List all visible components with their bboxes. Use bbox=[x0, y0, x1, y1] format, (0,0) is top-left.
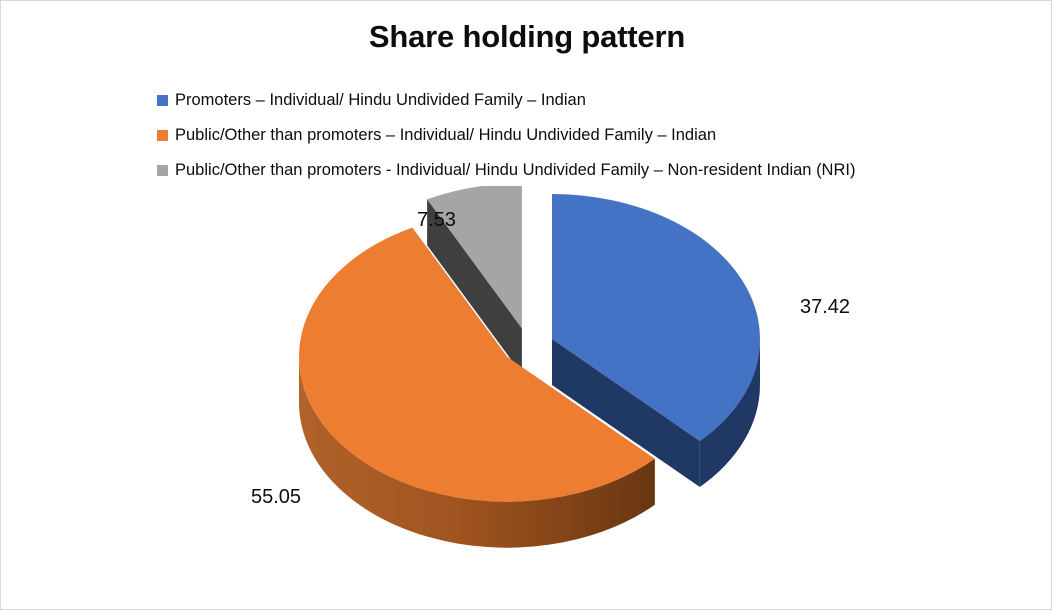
data-label-slice-blue: 37.42 bbox=[800, 296, 850, 319]
pie-chart-plot-area: 37.42 55.05 7.53 bbox=[1, 186, 1052, 586]
legend-label: Promoters – Individual/ Hindu Undivided … bbox=[175, 91, 586, 110]
data-label-slice-orange: 55.05 bbox=[251, 486, 301, 509]
legend-label: Public/Other than promoters - Individual… bbox=[175, 161, 855, 180]
chart-title: Share holding pattern bbox=[1, 19, 1052, 55]
legend-item-public-other-than-promoters-nri[interactable]: Public/Other than promoters - Individual… bbox=[157, 153, 855, 188]
legend-swatch-orange bbox=[157, 130, 168, 141]
data-label-slice-gray: 7.53 bbox=[417, 209, 456, 232]
legend-item-public-other-than-promoters-indian[interactable]: Public/Other than promoters – Individual… bbox=[157, 118, 855, 153]
legend-swatch-blue bbox=[157, 95, 168, 106]
legend-swatch-gray bbox=[157, 165, 168, 176]
chart-container: Share holding pattern Promoters – Indivi… bbox=[0, 0, 1052, 610]
legend-label: Public/Other than promoters – Individual… bbox=[175, 126, 716, 145]
chart-legend: Promoters – Individual/ Hindu Undivided … bbox=[157, 83, 855, 188]
legend-item-promoters-individual-hindu-undivided-family-indian[interactable]: Promoters – Individual/ Hindu Undivided … bbox=[157, 83, 855, 118]
pie-3d-graphic bbox=[1, 186, 1052, 586]
